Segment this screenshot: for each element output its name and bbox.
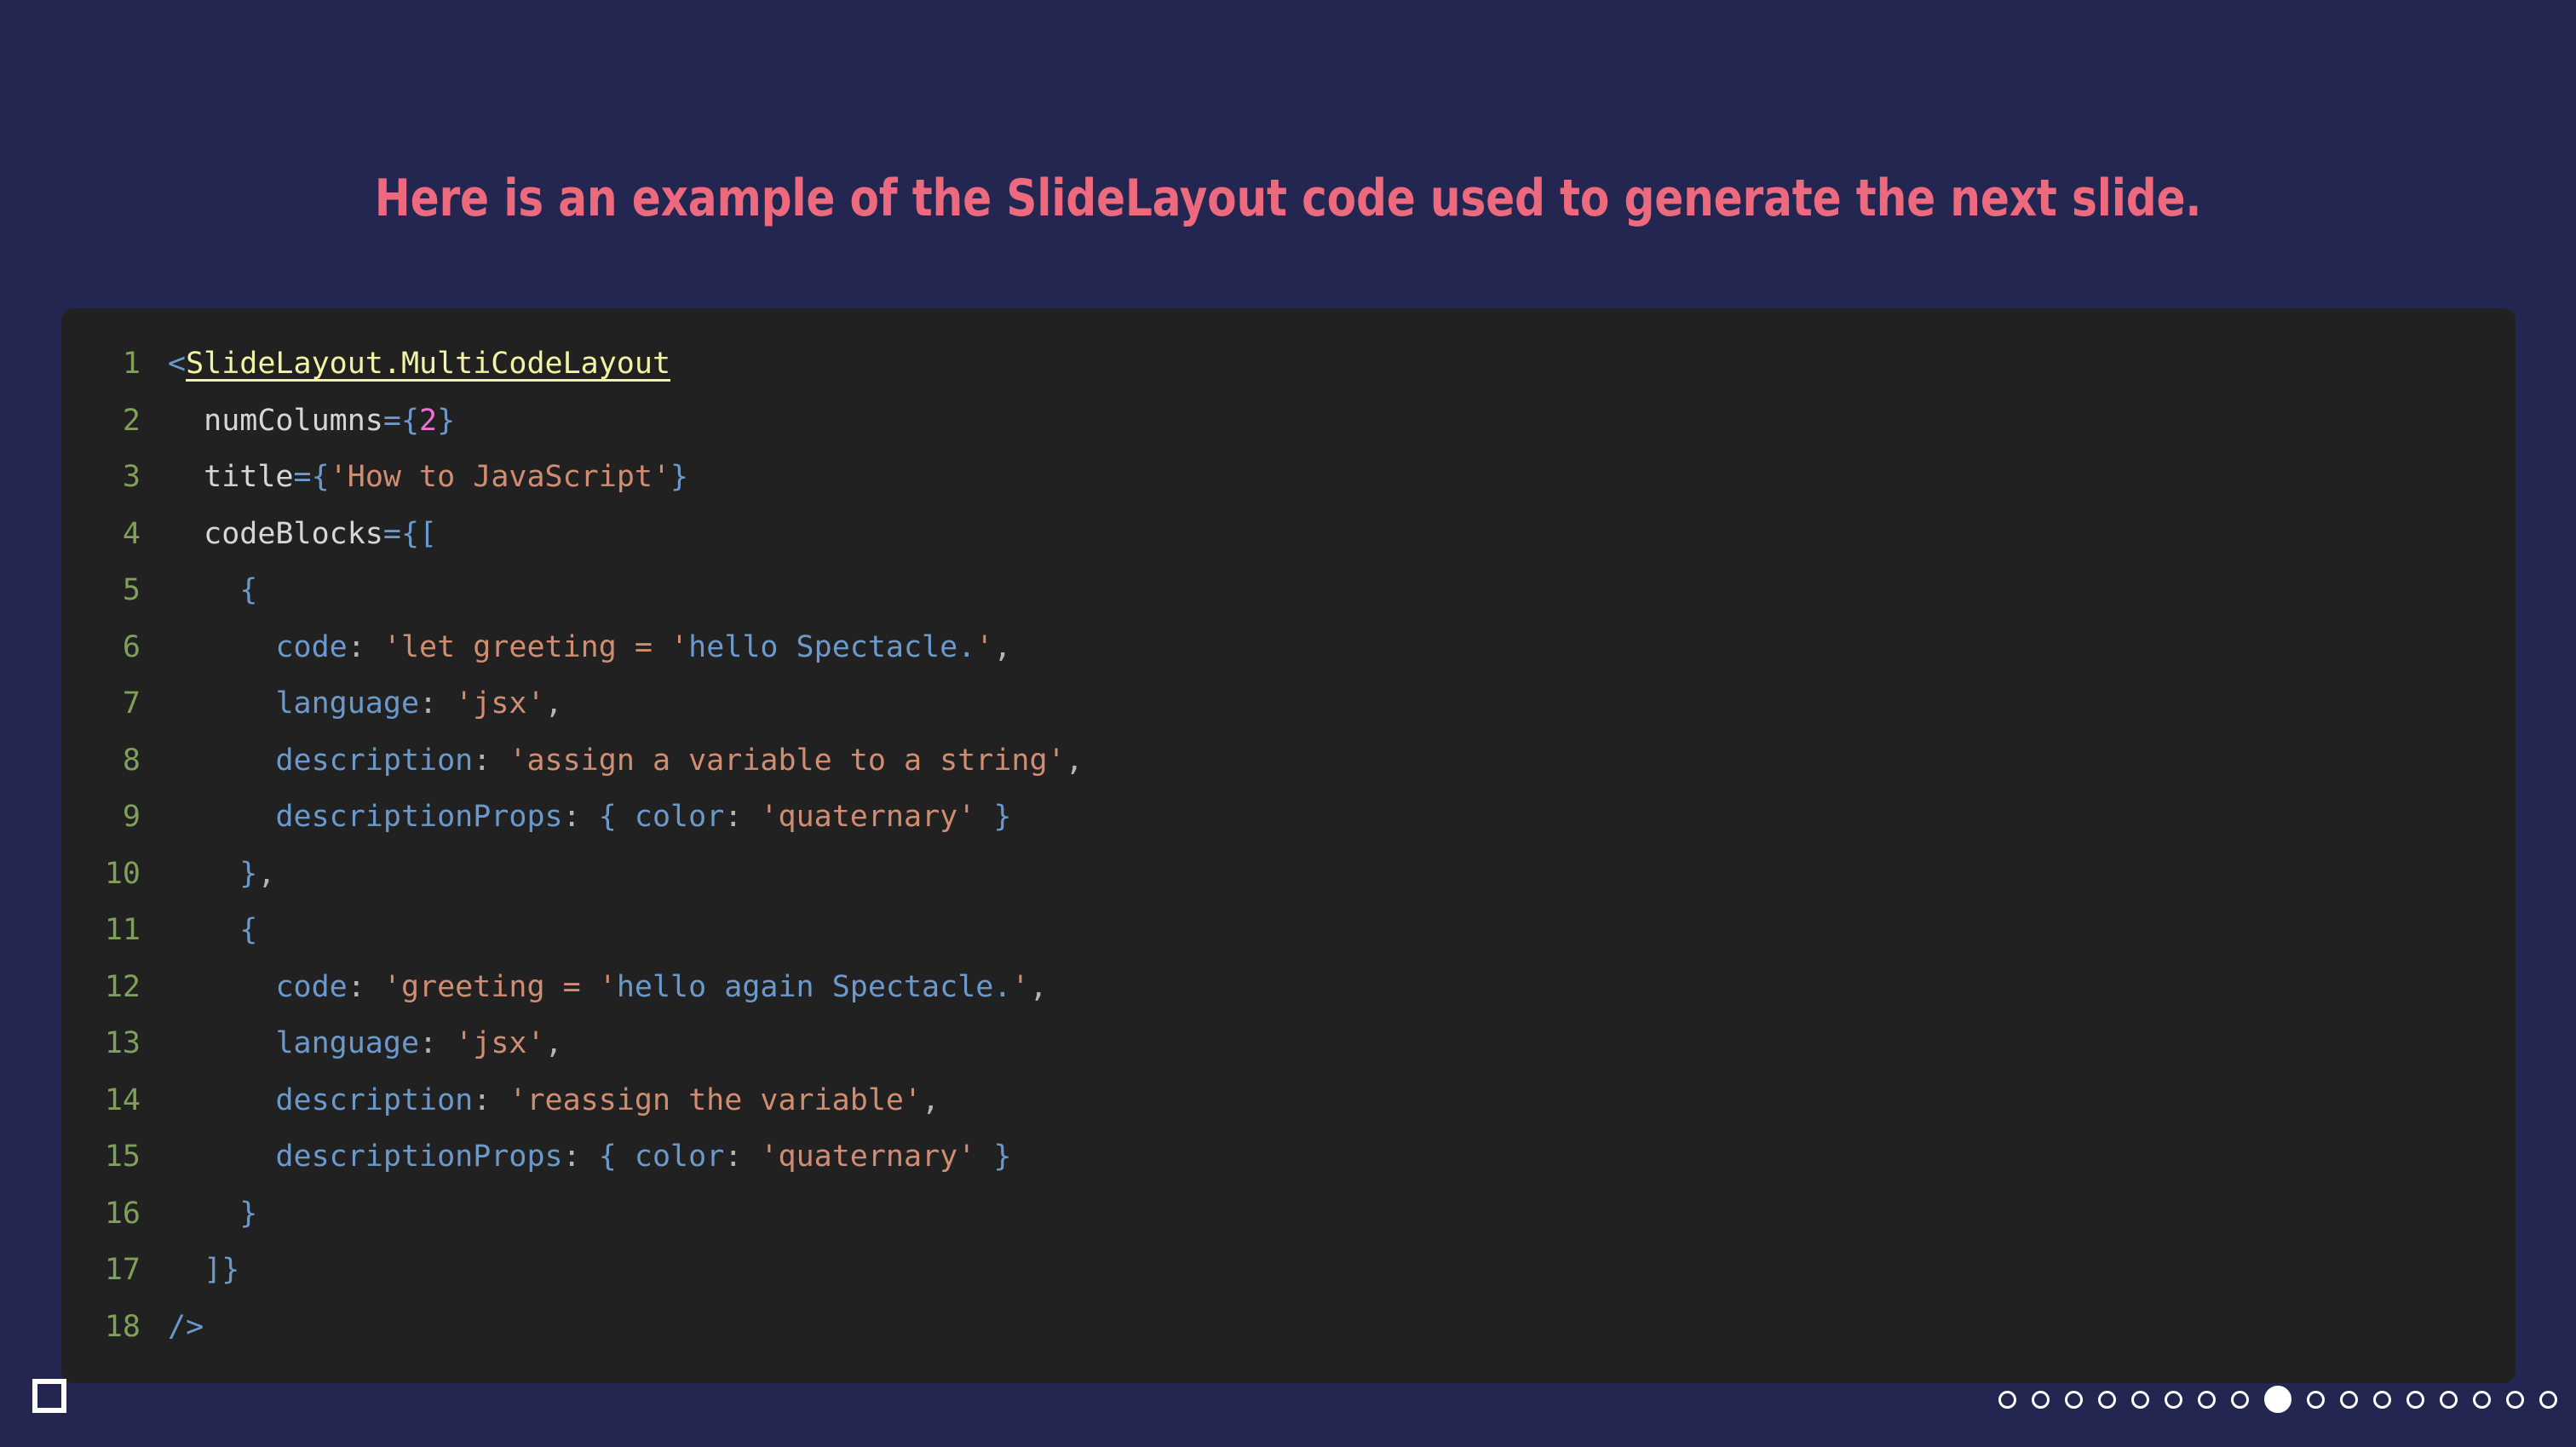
- code-line-number: 4: [61, 506, 168, 563]
- code-line-number: 16: [61, 1186, 168, 1243]
- code-line-text: code: 'greeting = 'hello again Spectacle…: [168, 970, 1048, 1004]
- code-line-number: 9: [61, 789, 168, 846]
- code-line-text: numColumns={2}: [168, 404, 455, 438]
- code-line-text: ]}: [168, 1253, 239, 1287]
- code-token-blue: color: [635, 1140, 724, 1174]
- code-line-number: 11: [61, 902, 168, 959]
- progress-dot[interactable]: [2032, 1391, 2050, 1409]
- code-token-plain: [168, 1253, 204, 1287]
- code-token-string: 'let greeting = ': [383, 630, 688, 664]
- code-line: 9 descriptionProps: { color: 'quaternary…: [61, 789, 2516, 846]
- code-line: 15 descriptionProps: { color: 'quaternar…: [61, 1128, 2516, 1186]
- code-token-blue: descriptionProps: [275, 1140, 562, 1174]
- progress-dot[interactable]: [2198, 1391, 2216, 1409]
- progress-dot[interactable]: [2131, 1391, 2149, 1409]
- code-token-punctuation: :: [724, 1140, 760, 1174]
- code-token-punctuation: :: [419, 1026, 455, 1060]
- code-line-number: 5: [61, 562, 168, 619]
- code-token-blue: }: [437, 404, 455, 438]
- code-token-string: 'assign a variable to a string': [509, 744, 1065, 778]
- code-line-number: 1: [61, 336, 168, 393]
- code-token-string: ': [1011, 970, 1029, 1004]
- code-token-punctuation: :: [473, 1083, 509, 1117]
- code-token-string: 'quaternary': [760, 1140, 975, 1174]
- code-token-plain: [168, 744, 275, 778]
- code-token-blue: descriptionProps: [275, 800, 562, 834]
- slide-progress-dots[interactable]: [1998, 1386, 2557, 1413]
- code-token-num: 2: [419, 404, 437, 438]
- code-line-text: descriptionProps: { color: 'quaternary' …: [168, 1140, 1011, 1174]
- code-token-blue: <: [168, 347, 186, 381]
- code-line-text: codeBlocks={[: [168, 517, 437, 551]
- code-token-plain: [168, 686, 275, 721]
- code-token-plain: codeBlocks: [168, 517, 383, 551]
- code-token-blue: code: [275, 970, 347, 1004]
- code-line-number: 7: [61, 675, 168, 732]
- code-token-blue: description: [275, 744, 473, 778]
- code-token-blue: />: [168, 1310, 204, 1344]
- code-token-plain: title: [168, 460, 294, 494]
- code-line-number: 13: [61, 1015, 168, 1072]
- code-line-text: language: 'jsx',: [168, 1026, 563, 1060]
- progress-dot[interactable]: [2165, 1391, 2182, 1409]
- code-token-plain: numColumns: [168, 404, 383, 438]
- progress-dot[interactable]: [2406, 1391, 2424, 1409]
- code-line-text: }: [168, 1197, 257, 1231]
- presentation-slide: Here is an example of the SlideLayout co…: [0, 0, 2576, 1447]
- code-line: 11 {: [61, 902, 2516, 959]
- code-token-punctuation: :: [563, 1140, 599, 1174]
- code-token-punctuation: :: [563, 800, 599, 834]
- fullscreen-corner-bottom-right: [48, 1394, 66, 1413]
- code-token-blue: description: [275, 1083, 473, 1117]
- code-token-blue: color: [635, 800, 724, 834]
- code-line: 13 language: 'jsx',: [61, 1015, 2516, 1072]
- code-line-number: 3: [61, 449, 168, 506]
- code-line-text: title={'How to JavaScript'}: [168, 460, 688, 494]
- code-token-punctuation: :: [348, 970, 383, 1004]
- code-line-number: 17: [61, 1242, 168, 1299]
- fullscreen-icon[interactable]: [32, 1379, 66, 1413]
- code-line: 3 title={'How to JavaScript'}: [61, 449, 2516, 506]
- code-token-plain: [168, 913, 239, 947]
- code-line-text: code: 'let greeting = 'hello Spectacle.'…: [168, 630, 1011, 664]
- code-line-text: />: [168, 1310, 204, 1344]
- code-token-blue: }: [239, 857, 257, 891]
- page-title: Here is an example of the SlideLayout co…: [90, 170, 2486, 227]
- code-token-blue: code: [275, 630, 347, 664]
- code-token-blue: =: [383, 517, 401, 551]
- progress-dot[interactable]: [2373, 1391, 2391, 1409]
- code-line-text: <SlideLayout.MultiCodeLayout: [168, 347, 670, 381]
- code-line: 7 language: 'jsx',: [61, 675, 2516, 732]
- code-token-string: 'jsx': [455, 686, 544, 721]
- code-line-text: language: 'jsx',: [168, 686, 563, 721]
- code-line: 10 },: [61, 846, 2516, 903]
- code-line: 12 code: 'greeting = 'hello again Specta…: [61, 959, 2516, 1016]
- code-line-number: 10: [61, 846, 168, 903]
- code-token-string: 'How to JavaScript': [330, 460, 670, 494]
- code-line-text: },: [168, 857, 275, 891]
- code-token-punctuation: ,: [1030, 970, 1048, 1004]
- code-line-text: {: [168, 573, 257, 607]
- code-token-punctuation: ,: [545, 686, 563, 721]
- code-line: 16 }: [61, 1186, 2516, 1243]
- code-token-blue: language: [275, 686, 419, 721]
- progress-dot[interactable]: [2440, 1391, 2458, 1409]
- code-token-string: 'reassign the variable': [509, 1083, 922, 1117]
- code-token-punctuation: ,: [545, 1026, 563, 1060]
- code-token-string: 'jsx': [455, 1026, 544, 1060]
- code-token-punctuation: :: [724, 800, 760, 834]
- code-line-number: 12: [61, 959, 168, 1016]
- code-token-blue: hello again Spectacle.: [617, 970, 1012, 1004]
- code-token-blue: {: [239, 913, 257, 947]
- code-token-punctuation: ,: [1066, 744, 1084, 778]
- code-token-blue: {: [239, 573, 257, 607]
- code-line: 5 {: [61, 562, 2516, 619]
- progress-dot[interactable]: [2506, 1391, 2524, 1409]
- code-line: 14 description: 'reassign the variable',: [61, 1072, 2516, 1129]
- code-token-blue: }: [670, 460, 688, 494]
- code-token-blue: }: [239, 1197, 257, 1231]
- code-line-number: 8: [61, 732, 168, 790]
- code-token-string: 'greeting = ': [383, 970, 617, 1004]
- code-line-number: 6: [61, 619, 168, 676]
- code-token-punctuation: :: [473, 744, 509, 778]
- code-token-plain: [168, 970, 275, 1004]
- code-token-tag: SlideLayout.MultiCodeLayout: [186, 347, 670, 381]
- progress-dot[interactable]: [2065, 1391, 2083, 1409]
- code-token-plain: [168, 1140, 275, 1174]
- progress-dot[interactable]: [2340, 1391, 2358, 1409]
- code-line-text: description: 'reassign the variable',: [168, 1083, 940, 1117]
- code-token-blue: =: [294, 460, 312, 494]
- progress-dot[interactable]: [2539, 1391, 2557, 1409]
- code-line: 4 codeBlocks={[: [61, 506, 2516, 563]
- code-line: 17 ]}: [61, 1242, 2516, 1299]
- progress-dot[interactable]: [2231, 1391, 2249, 1409]
- progress-dot-active[interactable]: [2264, 1386, 2291, 1413]
- code-line: 1<SlideLayout.MultiCodeLayout: [61, 336, 2516, 393]
- code-line: 8 description: 'assign a variable to a s…: [61, 732, 2516, 790]
- code-line-number: 18: [61, 1299, 168, 1356]
- code-token-string: 'quaternary': [760, 800, 975, 834]
- code-token-plain: [168, 1197, 239, 1231]
- code-line-text: descriptionProps: { color: 'quaternary' …: [168, 800, 1011, 834]
- code-line-text: description: 'assign a variable to a str…: [168, 744, 1084, 778]
- code-line-text: {: [168, 913, 257, 947]
- code-block-panel: 1<SlideLayout.MultiCodeLayout2 numColumn…: [61, 308, 2516, 1383]
- code-token-plain: [168, 1083, 275, 1117]
- code-line: 18/>: [61, 1299, 2516, 1356]
- code-token-plain: [168, 857, 239, 891]
- code-token-blue: hello Spectacle.: [688, 630, 975, 664]
- code-token-blue: {: [312, 460, 330, 494]
- code-token-blue: }: [975, 800, 1011, 834]
- code-line-number: 2: [61, 393, 168, 450]
- progress-dot[interactable]: [2473, 1391, 2491, 1409]
- code-token-punctuation: ,: [257, 857, 275, 891]
- code-token-blue: {: [599, 800, 635, 834]
- code-line-number: 15: [61, 1128, 168, 1186]
- code-token-string: ': [975, 630, 993, 664]
- code-lines-container: 1<SlideLayout.MultiCodeLayout2 numColumn…: [61, 336, 2516, 1355]
- code-token-blue: {: [401, 404, 419, 438]
- code-token-blue: }: [975, 1140, 1011, 1174]
- code-token-plain: [168, 573, 239, 607]
- progress-dot[interactable]: [2098, 1391, 2116, 1409]
- code-line: 6 code: 'let greeting = 'hello Spectacle…: [61, 619, 2516, 676]
- code-token-blue: {[: [401, 517, 437, 551]
- code-token-plain: [168, 800, 275, 834]
- code-token-blue: =: [383, 404, 401, 438]
- code-token-blue: language: [275, 1026, 419, 1060]
- code-token-punctuation: :: [419, 686, 455, 721]
- code-line-number: 14: [61, 1072, 168, 1129]
- progress-dot[interactable]: [2307, 1391, 2325, 1409]
- progress-dot[interactable]: [1998, 1391, 2016, 1409]
- code-token-punctuation: ,: [993, 630, 1011, 664]
- code-token-blue: {: [599, 1140, 635, 1174]
- code-token-blue: ]}: [204, 1253, 239, 1287]
- code-token-plain: [168, 1026, 275, 1060]
- code-token-plain: [168, 630, 275, 664]
- code-token-punctuation: ,: [922, 1083, 940, 1117]
- code-line: 2 numColumns={2}: [61, 393, 2516, 450]
- code-token-punctuation: :: [348, 630, 383, 664]
